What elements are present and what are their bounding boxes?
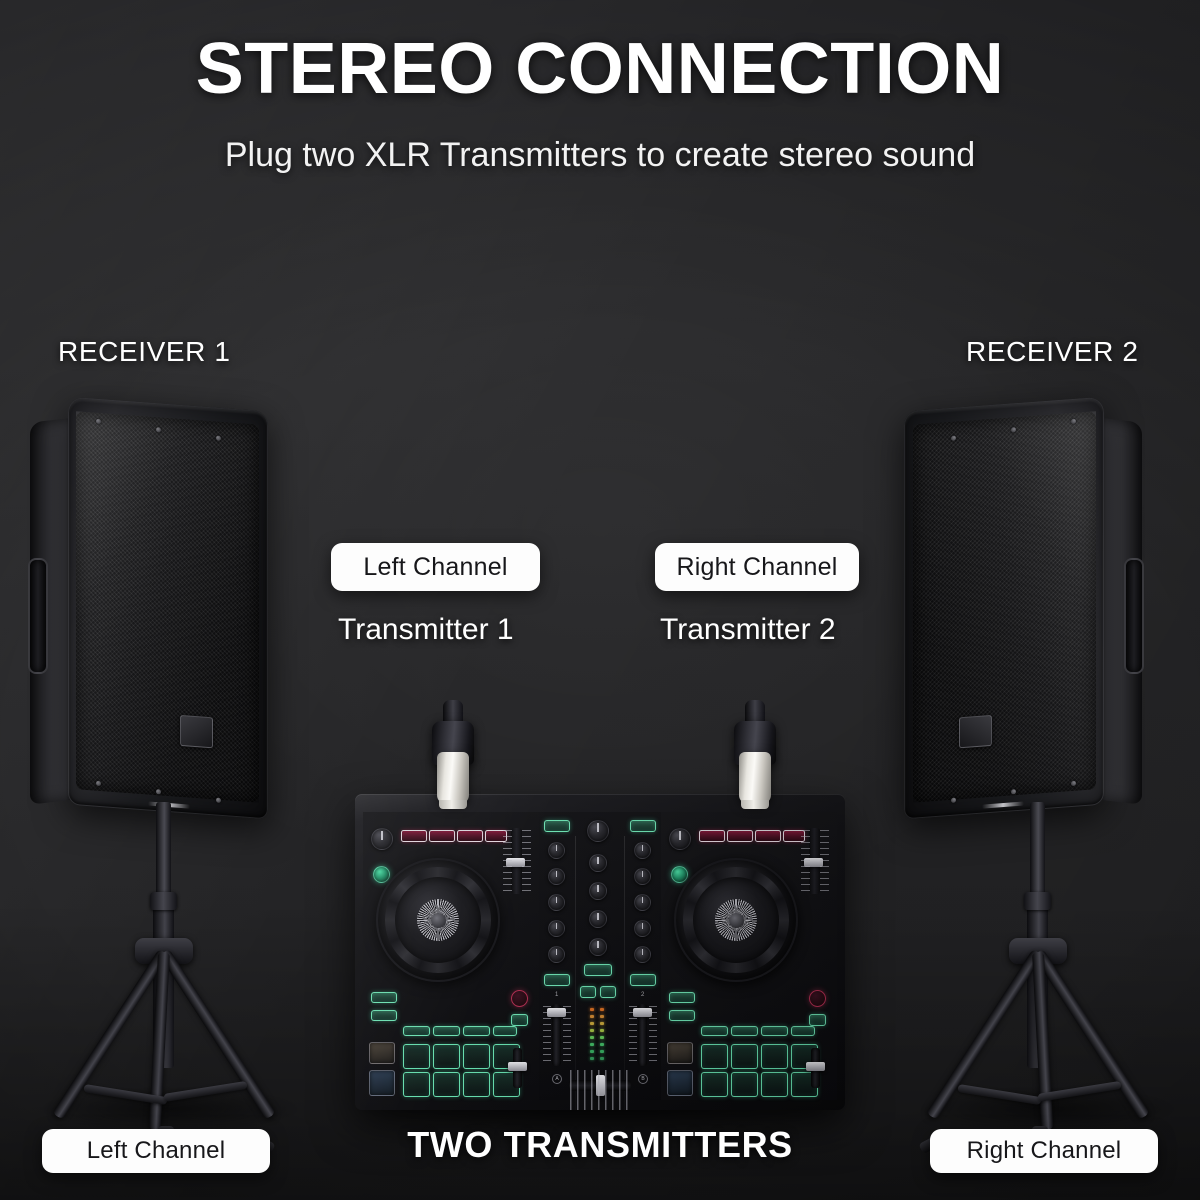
play-cue-panel-a[interactable] bbox=[369, 1070, 395, 1096]
performance-pad[interactable] bbox=[463, 1044, 490, 1069]
play-cue-panel-b[interactable] bbox=[667, 1070, 693, 1096]
deck-a bbox=[363, 812, 539, 1100]
jog-wheel-core bbox=[431, 913, 446, 928]
speaker-cabinet-front bbox=[904, 397, 1104, 820]
channel-2-number: 2 bbox=[641, 992, 644, 998]
cue-button-b[interactable] bbox=[809, 990, 826, 1007]
dj-controller: 1 A bbox=[355, 794, 845, 1110]
eq-low-knob-1[interactable] bbox=[548, 920, 565, 937]
speaker-tripod-stand bbox=[900, 802, 1180, 1158]
load-button-2[interactable] bbox=[630, 820, 656, 832]
badge-left-channel-transmitter: Left Channel bbox=[331, 543, 540, 591]
jog-wheel-a[interactable] bbox=[376, 858, 500, 982]
eq-mid-knob-2[interactable] bbox=[634, 894, 651, 911]
header: STEREO CONNECTION Plug two XLR Transmitt… bbox=[0, 0, 1200, 175]
filter-fader-cap-b[interactable] bbox=[806, 1062, 825, 1071]
fx-button-2[interactable] bbox=[429, 830, 455, 842]
xlr-transmitter-1 bbox=[427, 700, 479, 812]
speaker-receiver-2 bbox=[900, 398, 1180, 1158]
deck-b bbox=[661, 812, 837, 1100]
booth-level-knob[interactable] bbox=[589, 882, 607, 900]
speaker-brand-badge bbox=[180, 715, 213, 748]
stand-cross-brace bbox=[957, 1084, 1041, 1105]
deck-display-a bbox=[369, 1042, 395, 1064]
eq-high-knob-1[interactable] bbox=[548, 868, 565, 885]
screw-icon bbox=[216, 436, 221, 441]
gain-knob-2[interactable] bbox=[634, 842, 651, 859]
performance-pad[interactable] bbox=[761, 1072, 788, 1097]
load-button-1[interactable] bbox=[544, 820, 570, 832]
vu-led bbox=[590, 1050, 594, 1053]
cue-button-2[interactable] bbox=[630, 974, 656, 986]
channel-fader-ticks bbox=[563, 1006, 571, 1064]
fx-button-1[interactable] bbox=[699, 830, 725, 842]
crossfader-assign-a[interactable]: A bbox=[552, 1074, 562, 1084]
fx-button-2[interactable] bbox=[727, 830, 753, 842]
vu-led bbox=[600, 1008, 604, 1011]
pad-mode-slicer-b[interactable] bbox=[791, 1026, 815, 1036]
mixer-divider bbox=[624, 836, 625, 1110]
transmitter-1-label: Transmitter 1 bbox=[338, 613, 514, 647]
fx-select-knob[interactable] bbox=[371, 828, 393, 850]
filter-knob-2[interactable] bbox=[634, 946, 651, 963]
fx-select-knob[interactable] bbox=[669, 828, 691, 850]
performance-pad[interactable] bbox=[701, 1072, 728, 1097]
vu-led bbox=[590, 1036, 594, 1039]
vu-led bbox=[590, 1022, 594, 1025]
deck-display-b bbox=[667, 1042, 693, 1064]
pad-mode-hotcue-a[interactable] bbox=[403, 1026, 430, 1036]
tempo-fader-ticks bbox=[820, 830, 829, 892]
pad-mode-slicer-a[interactable] bbox=[493, 1026, 517, 1036]
fx-on-button[interactable] bbox=[671, 866, 688, 883]
eq-low-knob-2[interactable] bbox=[634, 920, 651, 937]
xlr-transmitter-2 bbox=[729, 700, 781, 812]
xlr-barrel bbox=[437, 752, 469, 804]
channel-fader-ticks bbox=[649, 1006, 657, 1064]
cue-button-a[interactable] bbox=[511, 990, 528, 1007]
performance-pad[interactable] bbox=[731, 1044, 758, 1069]
receiver-2-label: RECEIVER 2 bbox=[966, 336, 1139, 368]
gain-knob-1[interactable] bbox=[548, 842, 565, 859]
fx-button-3[interactable] bbox=[755, 830, 781, 842]
mode-toggle-a[interactable] bbox=[511, 1014, 528, 1026]
master-cue-button[interactable] bbox=[600, 986, 616, 998]
shift-button-b[interactable] bbox=[669, 1010, 695, 1021]
performance-pad[interactable] bbox=[433, 1072, 460, 1097]
speaker-bezel bbox=[904, 397, 1104, 820]
eq-high-knob-2[interactable] bbox=[634, 868, 651, 885]
cue-button-1[interactable] bbox=[544, 974, 570, 986]
performance-pad[interactable] bbox=[403, 1044, 430, 1069]
speaker-cabinet bbox=[900, 398, 1150, 818]
vu-led bbox=[600, 1043, 604, 1046]
mixer-section: 1 A bbox=[539, 812, 661, 1100]
channel-fader-ticks bbox=[629, 1006, 637, 1064]
master-level-knob[interactable] bbox=[589, 854, 607, 872]
stand-cross-brace bbox=[163, 1081, 247, 1102]
badge-right-channel-transmitter: Right Channel bbox=[655, 543, 859, 591]
xlr-barrel bbox=[739, 752, 771, 804]
browse-encoder[interactable] bbox=[587, 820, 609, 842]
speaker-receiver-1 bbox=[22, 398, 302, 1158]
performance-pad[interactable] bbox=[761, 1044, 788, 1069]
shift-button-a[interactable] bbox=[371, 1010, 397, 1021]
speaker-cabinet bbox=[22, 398, 272, 818]
xlr-pins bbox=[741, 800, 769, 809]
speaker-bezel bbox=[68, 397, 268, 820]
pad-mode-loop-a[interactable] bbox=[433, 1026, 460, 1036]
eq-mid-knob-1[interactable] bbox=[548, 894, 565, 911]
vu-led bbox=[590, 1015, 594, 1018]
vu-led bbox=[590, 1008, 594, 1011]
xlr-pins bbox=[439, 800, 467, 809]
mode-toggle-b[interactable] bbox=[809, 1014, 826, 1026]
crossfader-assign-b[interactable]: B bbox=[638, 1074, 648, 1084]
fx-button-3[interactable] bbox=[457, 830, 483, 842]
vu-meter bbox=[587, 1008, 611, 1064]
channel-1-number: 1 bbox=[555, 992, 558, 998]
stand-height-collar bbox=[150, 892, 177, 910]
transmitter-2-label: Transmitter 2 bbox=[660, 613, 836, 647]
pad-mode-loop-b[interactable] bbox=[731, 1026, 758, 1036]
performance-pad[interactable] bbox=[701, 1044, 728, 1069]
mic-button[interactable] bbox=[584, 964, 612, 976]
cue-mix-button[interactable] bbox=[580, 986, 596, 998]
performance-pad[interactable] bbox=[433, 1044, 460, 1069]
jog-wheel-b[interactable] bbox=[674, 858, 798, 982]
crossfader-ticks bbox=[570, 1092, 630, 1110]
speaker-cabinet-front bbox=[68, 397, 268, 820]
vu-led bbox=[590, 1029, 594, 1032]
channel-fader-ticks bbox=[543, 1006, 551, 1064]
filter-fader-cap-a[interactable] bbox=[508, 1062, 527, 1071]
performance-pad[interactable] bbox=[403, 1072, 430, 1097]
sync-button-a[interactable] bbox=[371, 992, 397, 1003]
tempo-fader-ticks bbox=[801, 830, 810, 892]
filter-knob-1[interactable] bbox=[548, 946, 565, 963]
screw-icon bbox=[96, 419, 101, 424]
screw-icon bbox=[156, 427, 161, 432]
phones-mix-knob[interactable] bbox=[589, 910, 607, 928]
pad-mode-roll-b[interactable] bbox=[761, 1026, 788, 1036]
pad-mode-roll-a[interactable] bbox=[463, 1026, 490, 1036]
vu-led bbox=[590, 1057, 594, 1060]
pad-mode-hotcue-b[interactable] bbox=[701, 1026, 728, 1036]
page-subtitle: Plug two XLR Transmitters to create ster… bbox=[0, 136, 1200, 175]
tempo-fader-ticks bbox=[522, 830, 531, 892]
stand-height-collar bbox=[1024, 892, 1051, 910]
fx-on-button[interactable] bbox=[373, 866, 390, 883]
speaker-handle bbox=[1124, 558, 1144, 674]
receiver-1-label: RECEIVER 1 bbox=[58, 336, 231, 368]
sync-button-b[interactable] bbox=[669, 992, 695, 1003]
vu-led bbox=[600, 1029, 604, 1032]
crossfader-ticks bbox=[570, 1070, 630, 1092]
phones-level-knob[interactable] bbox=[589, 938, 607, 956]
vu-led bbox=[600, 1057, 604, 1060]
speaker-handle bbox=[28, 558, 48, 674]
vu-led bbox=[590, 1043, 594, 1046]
screw-icon bbox=[156, 789, 161, 794]
controller-caption: TWO TRANSMITTERS bbox=[0, 1124, 1200, 1166]
page-title: STEREO CONNECTION bbox=[0, 32, 1200, 108]
screw-icon bbox=[96, 781, 101, 786]
fx-button-1[interactable] bbox=[401, 830, 427, 842]
vu-led bbox=[600, 1015, 604, 1018]
tempo-fader-ticks bbox=[503, 830, 512, 892]
vu-led bbox=[600, 1050, 604, 1053]
mixer-divider bbox=[575, 836, 576, 1110]
vu-led bbox=[600, 1036, 604, 1039]
speaker-brand-badge bbox=[959, 715, 992, 748]
performance-pad[interactable] bbox=[463, 1072, 490, 1097]
jog-wheel-core bbox=[729, 913, 744, 928]
speaker-tripod-stand bbox=[22, 802, 302, 1158]
performance-pad[interactable] bbox=[731, 1072, 758, 1097]
vu-led bbox=[600, 1022, 604, 1025]
